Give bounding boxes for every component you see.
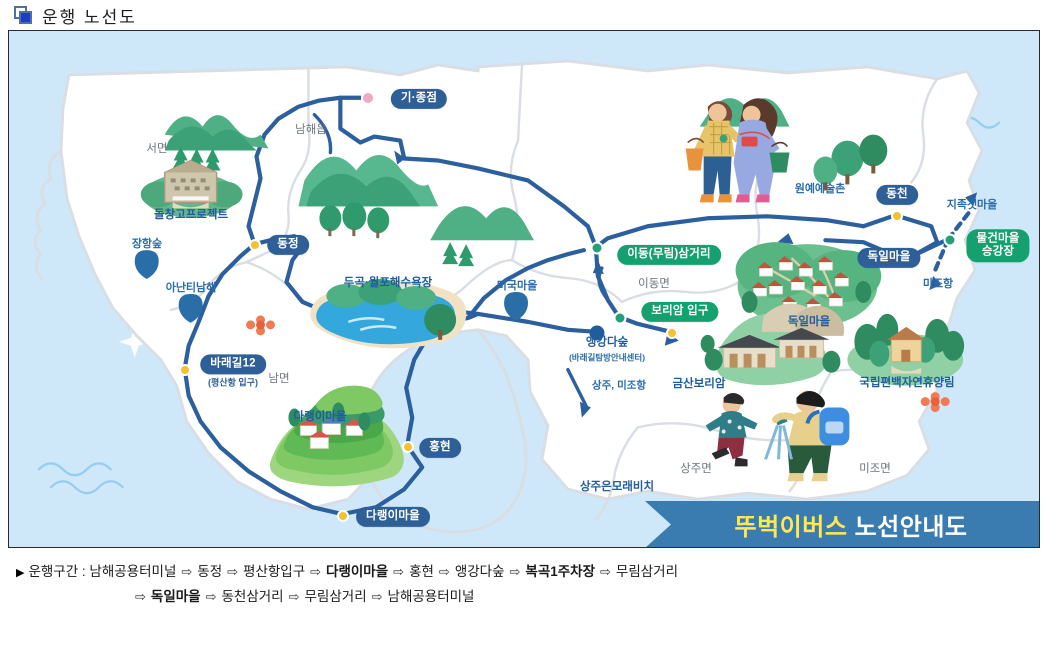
stop-badge-baraegil12-sub: (평산항 입구): [200, 376, 266, 389]
route-stop: 복곡1주차장: [525, 564, 595, 579]
route-stop: 남해공용터미널: [89, 564, 176, 579]
banner-text: 뚜벅이버스 노선안내도: [735, 507, 968, 542]
stop-dot-hongyeon[interactable]: [402, 441, 414, 453]
page-header: 운행 노선도: [0, 0, 1048, 30]
route-stops-line2: ⇨독일마을⇨동천삼거리⇨무림삼거리⇨남해공용터미널: [130, 589, 474, 604]
route-stops-line1: 남해공용터미널⇨동정⇨평산항입구⇨다랭이마을⇨홍현⇨앵강다숲⇨복곡1주차장⇨무림…: [89, 564, 678, 579]
route-label: 운행구간 :: [28, 564, 85, 579]
stop-badge-terminal[interactable]: 기·종점: [391, 89, 447, 109]
stop-dot-darangyi[interactable]: [337, 510, 349, 522]
stop-dot-geumsan[interactable]: [666, 327, 678, 339]
route-line-1: ▶운행구간 : 남해공용터미널⇨동정⇨평산항입구⇨다랭이마을⇨홍현⇨앵강다숲⇨복…: [16, 560, 1032, 585]
stop-badge-baraegil12[interactable]: 바래길12: [200, 354, 266, 374]
route-separator-icon: ⇨: [227, 564, 238, 579]
route-separator-icon: ⇨: [439, 564, 450, 579]
stop-dot-boriam[interactable]: [614, 312, 627, 325]
stop-badge-dongjeong[interactable]: 동정: [267, 235, 309, 255]
page-title: 운행 노선도: [42, 3, 137, 28]
route-separator-icon: ⇨: [372, 589, 383, 604]
stop-badge-dongcheon[interactable]: 동천: [876, 185, 918, 205]
banner-subject: 노선안내도: [855, 514, 968, 541]
route-stop: 독일마을: [151, 589, 201, 604]
stop-badge-baraegil12-group[interactable]: 바래길12 (평산항 입구): [200, 353, 266, 388]
route-stop: 동정: [197, 564, 222, 579]
route-separator-icon: ⇨: [181, 564, 192, 579]
stop-dot-terminal[interactable]: [361, 91, 375, 105]
stop-badge-idong-samgeori[interactable]: 이동(무림)삼거리: [617, 245, 721, 265]
route-separator-icon: ⇨: [206, 589, 217, 604]
double-square-icon: [14, 6, 33, 25]
stop-dot-aenggang: [590, 326, 605, 341]
route-map-card: 서면 남해읍 남면 이동면 상주면 미조면 돌창고프로젝트 장항숲 아난티남해 …: [8, 30, 1040, 548]
route-line-2: ⇨독일마을⇨동천삼거리⇨무림삼거리⇨남해공용터미널: [16, 585, 1032, 610]
route-stop: 남해공용터미널: [388, 589, 475, 604]
stop-badge-mulgeon[interactable]: 물건마을 승강장: [966, 229, 1029, 262]
banner-brand: 뚜벅이버스: [735, 514, 848, 541]
route-separator-icon: ⇨: [510, 564, 521, 579]
route-separator-icon: ⇨: [135, 589, 146, 604]
route-separator-icon: ⇨: [600, 564, 611, 579]
stop-dot-dongcheon[interactable]: [891, 210, 903, 222]
route-stop: 홍현: [409, 564, 434, 579]
stop-dot-idong-samgeori[interactable]: [591, 242, 604, 255]
stop-badge-dogil[interactable]: 독일마을: [857, 248, 920, 268]
stop-dot-baraegil12[interactable]: [179, 364, 191, 376]
route-separator-icon: ⇨: [393, 564, 404, 579]
route-stop: 무림삼거리: [616, 564, 678, 579]
map-illustration: [9, 31, 1039, 547]
route-stop: 무림삼거리: [305, 589, 367, 604]
triangle-right-icon: ▶: [16, 567, 24, 579]
route-description: ▶운행구간 : 남해공용터미널⇨동정⇨평산항입구⇨다랭이마을⇨홍현⇨앵강다숲⇨복…: [0, 560, 1048, 610]
route-separator-icon: ⇨: [310, 564, 321, 579]
stop-dot-dongjeong[interactable]: [249, 239, 261, 251]
route-separator-icon: ⇨: [289, 589, 300, 604]
stop-dot-mulgeon[interactable]: [944, 234, 957, 247]
stop-badge-hongyeon[interactable]: 홍현: [419, 438, 461, 458]
stop-badge-boriam[interactable]: 보리암 입구: [641, 302, 718, 322]
route-stop: 평산항입구: [243, 564, 305, 579]
route-stop: 앵강다숲: [455, 564, 505, 579]
stop-badge-darangyi[interactable]: 다랭이마을: [356, 507, 430, 527]
route-stop: 동천삼거리: [222, 589, 284, 604]
stop-badge-mulgeon-line2: 승강장: [982, 246, 1014, 258]
stop-badge-mulgeon-line1: 물건마을: [976, 232, 1019, 244]
route-stop: 다랭이마을: [326, 564, 388, 579]
map-title-banner: 뚜벅이버스 노선안내도: [645, 501, 1040, 548]
